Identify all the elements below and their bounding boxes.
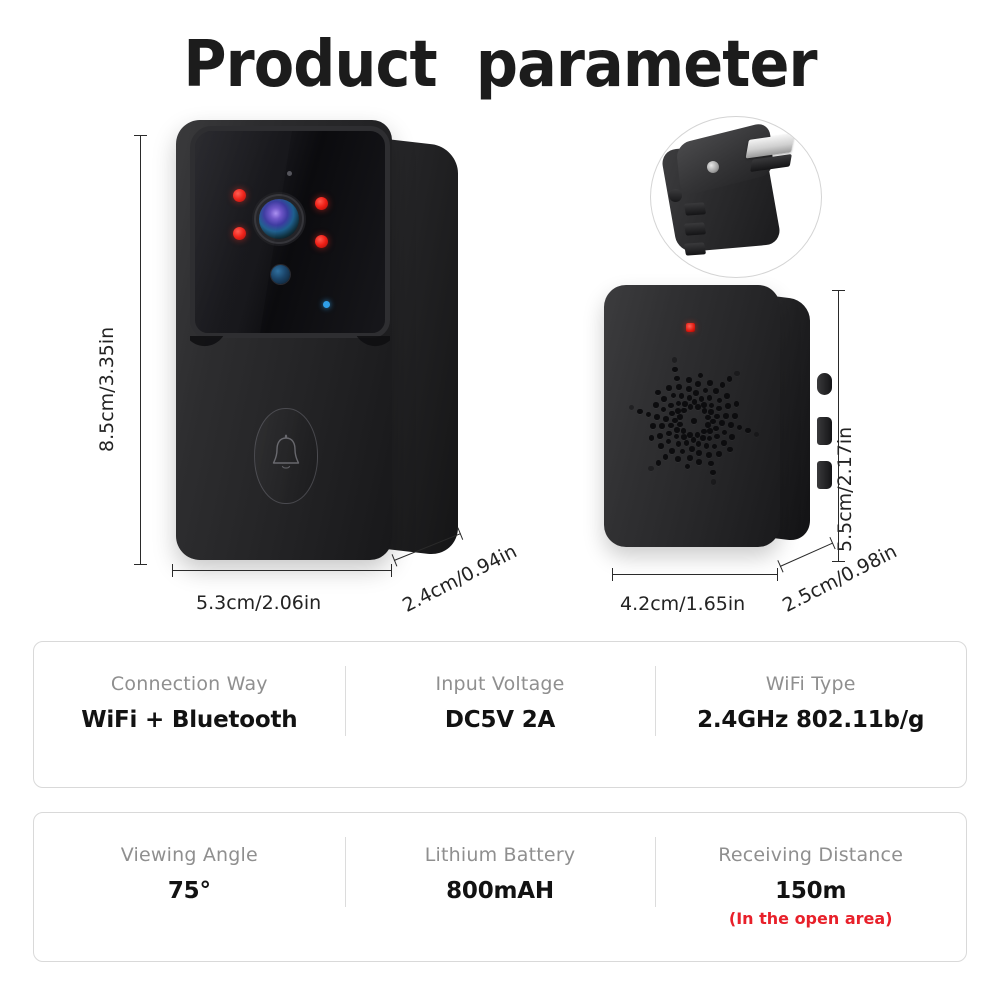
spec-value: WiFi + Bluetooth <box>34 707 345 733</box>
speaker-hole <box>734 401 740 407</box>
inset-side-button <box>684 202 706 215</box>
chime-side-button <box>817 461 832 489</box>
speaker-hole <box>676 384 682 390</box>
speaker-hole <box>686 386 692 392</box>
speaker-hole <box>679 393 685 399</box>
indicator-led-icon <box>686 323 695 332</box>
spec-label: WiFi Type <box>655 673 966 695</box>
speaker-hole <box>629 405 635 411</box>
inset-side-button <box>684 222 706 235</box>
speaker-hole <box>654 414 660 420</box>
speaker-hole <box>737 425 743 431</box>
speaker-hole <box>717 398 723 404</box>
doorbell-bell-button <box>254 408 318 504</box>
speaker-hole <box>702 408 708 414</box>
plug-detail-inset <box>650 116 822 278</box>
pir-sensor-icon <box>271 265 290 284</box>
speaker-hole <box>710 470 716 476</box>
speaker-hole <box>727 447 733 453</box>
speaker-hole <box>724 393 730 399</box>
speaker-hole <box>716 451 722 457</box>
speaker-hole <box>650 423 656 429</box>
speaker-hole <box>705 422 711 428</box>
speaker-hole <box>722 430 728 436</box>
speaker-hole <box>658 443 664 449</box>
speaker-hole <box>721 440 727 446</box>
spec-value: 75° <box>34 878 345 904</box>
speaker-hole <box>712 444 718 450</box>
speaker-hole <box>674 427 680 433</box>
spec-column-input-voltage: Input Voltage DC5V 2A <box>345 642 656 787</box>
speaker-hole <box>695 404 701 410</box>
product-image-stage: 8.5cm/3.35in 5.3cm/2.06in 2.4cm/0.94in 5… <box>0 0 1000 630</box>
speaker-hole <box>696 459 702 465</box>
chime-height-label: 5.5cm/2.17in <box>834 427 856 552</box>
spec-column-wifi-type: WiFi Type 2.4GHz 802.11b/g <box>655 642 966 787</box>
speaker-hole <box>707 395 713 401</box>
speaker-hole <box>684 440 690 446</box>
spec-value: DC5V 2A <box>345 707 656 733</box>
chime-side-button <box>817 417 832 445</box>
speaker-hole <box>666 431 672 437</box>
speaker-hole <box>703 388 709 394</box>
speaker-hole <box>719 420 725 426</box>
speaker-hole <box>687 455 693 461</box>
speaker-hole <box>672 367 678 373</box>
speaker-hole <box>720 382 726 388</box>
speaker-hole <box>709 403 715 409</box>
speaker-hole <box>688 404 694 410</box>
speaker-hole <box>677 422 683 428</box>
doorbell-height-dimension-line <box>140 135 141 565</box>
speaker-hole <box>661 396 667 402</box>
chime-side-button <box>817 373 832 395</box>
speaker-hole <box>732 413 738 419</box>
spec-note: (In the open area) <box>655 909 966 928</box>
speaker-hole <box>659 423 665 429</box>
chime-width-label: 4.2cm/1.65in <box>620 593 745 615</box>
spec-label: Lithium Battery <box>345 844 656 866</box>
speaker-hole <box>685 464 691 470</box>
doorbell-body <box>176 120 392 560</box>
speaker-hole <box>701 402 707 408</box>
doorbell-height-label: 8.5cm/3.35in <box>96 327 118 452</box>
speaker-hole <box>674 376 680 382</box>
doorbell-glass-faceplate <box>190 126 390 338</box>
speaker-hole <box>680 449 686 455</box>
speaker-hole <box>686 377 692 383</box>
speaker-hole <box>663 416 669 422</box>
speaker-hole <box>696 450 702 456</box>
spec-value: 800mAH <box>345 878 656 904</box>
speaker-hole <box>637 409 643 415</box>
speaker-hole <box>704 443 710 449</box>
speaker-hole <box>707 436 713 442</box>
speaker-hole <box>707 380 713 386</box>
speaker-hole <box>725 403 731 409</box>
speaker-hole <box>689 446 695 452</box>
speaker-hole <box>681 428 687 434</box>
speaker-hole <box>727 376 733 382</box>
speaker-hole <box>657 433 663 439</box>
speaker-hole <box>701 429 707 435</box>
speaker-hole <box>711 479 717 485</box>
speaker-hole <box>713 388 719 394</box>
speaker-hole <box>666 439 672 445</box>
speaker-hole <box>698 373 704 379</box>
speaker-hole <box>699 396 705 402</box>
spec-card: Viewing Angle 75° Lithium Battery 800mAH… <box>33 812 967 962</box>
speaker-hole <box>713 426 719 432</box>
doorbell-body-seam <box>190 336 390 362</box>
chime-width-dimension-line <box>612 574 778 575</box>
speaker-hole <box>710 419 716 425</box>
speaker-hole <box>687 432 693 438</box>
speaker-hole <box>707 428 713 434</box>
spec-label: Viewing Angle <box>34 844 345 866</box>
status-led-icon <box>323 301 330 308</box>
ir-led-icon <box>233 227 246 240</box>
spec-card: Connection Way WiFi + Bluetooth Input Vo… <box>33 641 967 788</box>
bell-icon <box>270 433 302 477</box>
speaker-hole <box>734 371 740 377</box>
speaker-hole <box>706 452 712 458</box>
speaker-hole <box>669 448 675 454</box>
speaker-grille-icon <box>620 347 768 495</box>
doorbell-product-image <box>168 120 458 570</box>
speaker-hole <box>693 390 699 396</box>
speaker-hole <box>661 407 667 413</box>
speaker-hole <box>714 434 720 440</box>
speaker-hole <box>672 357 678 363</box>
speaker-hole <box>681 434 687 440</box>
chime-product-image <box>604 285 826 560</box>
speaker-hole <box>714 414 720 420</box>
spec-column-connection-way: Connection Way WiFi + Bluetooth <box>34 642 345 787</box>
doorbell-width-dimension-line <box>172 570 392 571</box>
ir-led-icon <box>315 235 328 248</box>
spec-label: Receiving Distance <box>655 844 966 866</box>
speaker-hole <box>687 395 693 401</box>
speaker-hole <box>696 441 702 447</box>
speaker-hole <box>676 441 682 447</box>
speaker-hole <box>676 401 682 407</box>
speaker-hole <box>700 435 706 441</box>
spec-column-receiving-distance: Receiving Distance 150m (In the open are… <box>655 813 966 961</box>
speaker-hole <box>695 381 701 387</box>
speaker-hole <box>674 434 680 440</box>
spec-value: 150m <box>655 878 966 904</box>
inset-side-button <box>684 242 706 255</box>
spec-value: 2.4GHz 802.11b/g <box>655 707 966 733</box>
speaker-hole <box>663 454 669 460</box>
speaker-hole <box>708 409 714 415</box>
speaker-hole <box>728 422 734 428</box>
speaker-hole <box>716 406 722 412</box>
speaker-hole <box>666 385 672 391</box>
speaker-hole <box>671 393 677 399</box>
speaker-hole <box>723 413 729 419</box>
speaker-hole <box>648 466 654 472</box>
speaker-hole <box>656 460 662 466</box>
spec-column-viewing-angle: Viewing Angle 75° <box>34 813 345 961</box>
speaker-hole <box>646 412 652 418</box>
ir-led-icon <box>315 197 328 210</box>
microphone-pinhole-icon <box>287 171 292 176</box>
speaker-hole <box>745 428 751 434</box>
speaker-hole <box>649 435 655 441</box>
speaker-hole <box>677 414 683 420</box>
speaker-hole <box>691 418 697 424</box>
speaker-hole <box>708 461 714 467</box>
camera-lens-icon <box>259 199 299 239</box>
speaker-hole <box>675 456 681 462</box>
speaker-hole <box>669 411 675 417</box>
speaker-hole <box>668 423 674 429</box>
ir-led-icon <box>233 189 246 202</box>
speaker-hole <box>681 408 687 414</box>
spec-label: Input Voltage <box>345 673 656 695</box>
speaker-hole <box>675 408 681 414</box>
speaker-hole <box>754 432 760 438</box>
speaker-hole <box>729 434 735 440</box>
speaker-hole <box>655 390 661 396</box>
spec-label: Connection Way <box>34 673 345 695</box>
spec-column-lithium-battery: Lithium Battery 800mAH <box>345 813 656 961</box>
speaker-hole <box>668 403 674 409</box>
doorbell-width-label: 5.3cm/2.06in <box>196 592 321 614</box>
speaker-hole <box>653 402 659 408</box>
chime-body <box>604 285 780 547</box>
inset-knob-icon <box>669 189 682 202</box>
